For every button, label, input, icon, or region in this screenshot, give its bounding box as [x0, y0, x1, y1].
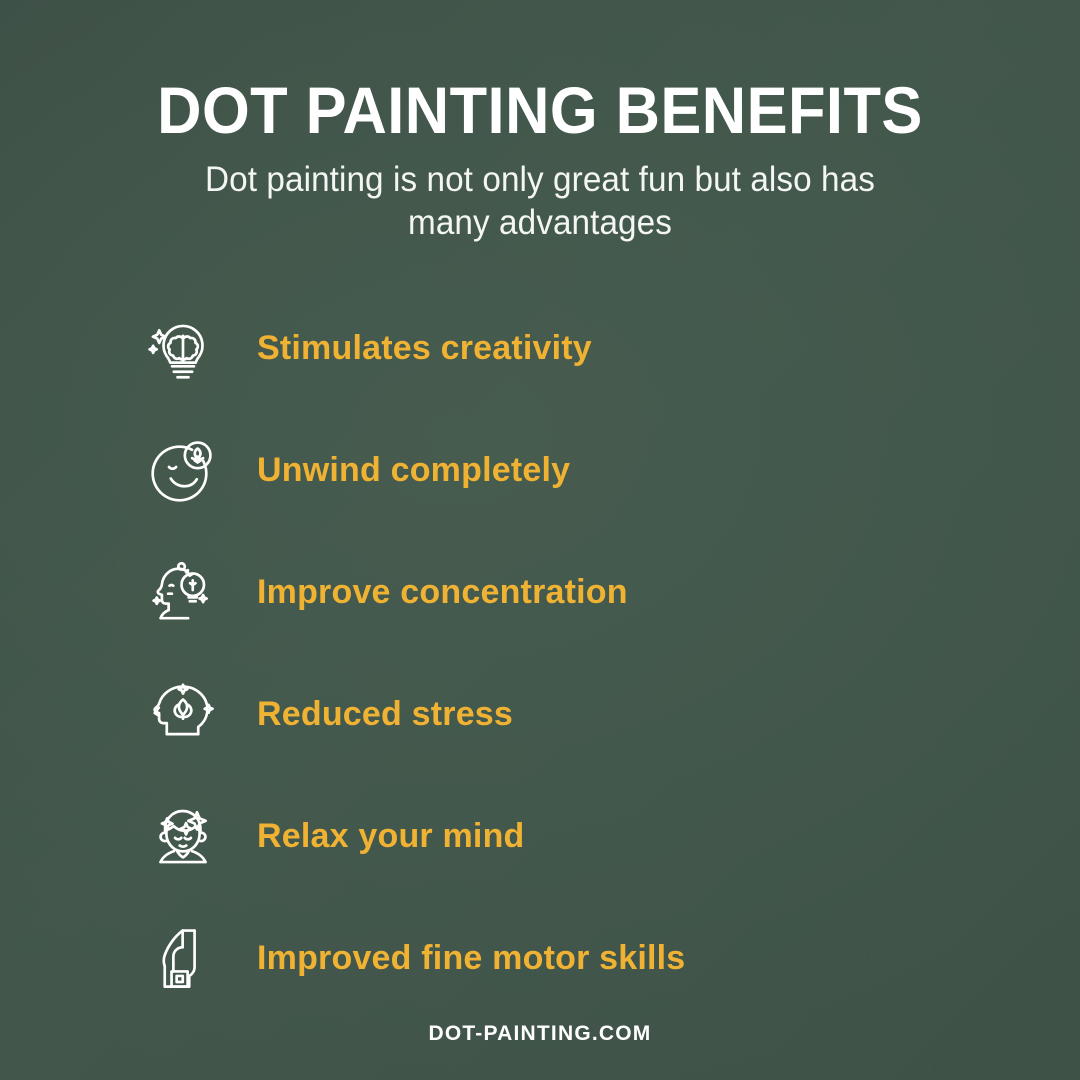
- list-item: Stimulates creativity: [0, 287, 1080, 409]
- smiling-face-flower-icon: [133, 431, 233, 509]
- page-title: DOT PAINTING BENEFITS: [38, 70, 1042, 150]
- list-item: Improved fine motor skills: [0, 897, 1080, 1019]
- head-lightbulb-icon: [133, 553, 233, 631]
- benefits-list: Stimulates creativity Unwind completely: [0, 287, 1080, 1019]
- benefit-label: Reduced stress: [257, 695, 513, 734]
- poster-canvas: DOT PAINTING BENEFITS Dot painting is no…: [0, 0, 1080, 1080]
- hand-holding-block-icon: [133, 919, 233, 997]
- relaxed-face-sparkles-icon: [133, 797, 233, 875]
- benefit-label: Improved fine motor skills: [257, 939, 685, 978]
- benefit-label: Improve concentration: [257, 573, 628, 612]
- page-subtitle: Dot painting is not only great fun but a…: [170, 158, 911, 244]
- benefit-label: Relax your mind: [257, 817, 525, 856]
- list-item: Reduced stress: [0, 653, 1080, 775]
- benefit-label: Unwind completely: [257, 451, 570, 490]
- list-item: Relax your mind: [0, 775, 1080, 897]
- brain-lightbulb-icon: [133, 309, 233, 387]
- head-lotus-icon: [133, 675, 233, 753]
- poster-content: DOT PAINTING BENEFITS Dot painting is no…: [0, 0, 1080, 1080]
- list-item: Unwind completely: [0, 409, 1080, 531]
- list-item: Improve concentration: [0, 531, 1080, 653]
- benefit-label: Stimulates creativity: [257, 329, 592, 368]
- footer-website: DOT-PAINTING.COM: [0, 1022, 1080, 1046]
